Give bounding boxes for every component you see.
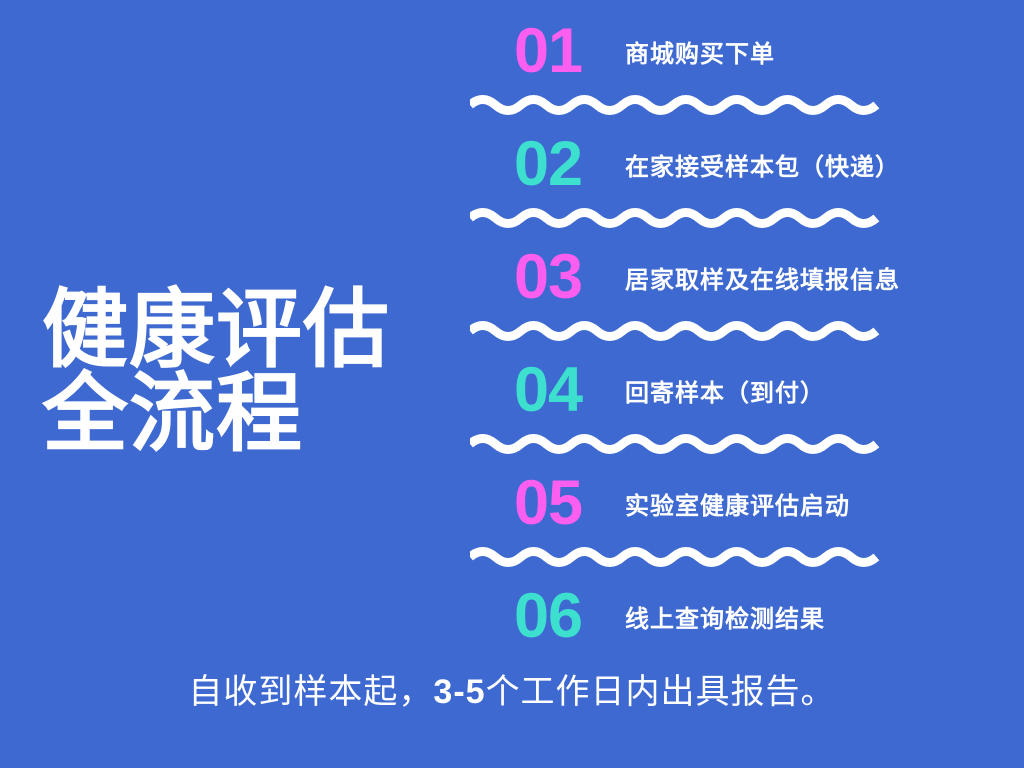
step-label-03: 居家取样及在线填报信息 <box>625 240 900 315</box>
wave-divider-4 <box>470 428 882 466</box>
step-number-06: 06 <box>514 579 582 654</box>
turnaround-note-days: 3-5 <box>433 673 485 711</box>
step-label-01: 商城购买下单 <box>625 14 775 89</box>
wave-divider-3 <box>470 315 882 353</box>
wave-divider-1 <box>470 89 882 127</box>
page-title-line-1: 健康评估 <box>42 288 442 372</box>
step-number-04: 04 <box>514 353 582 428</box>
turnaround-note-prefix: 自收到样本起， <box>188 673 433 711</box>
turnaround-note-suffix: 个工作日内出具报告。 <box>486 673 836 711</box>
slide-canvas: 健康评估 全流程 01 商城购买下单 02 在家接受样本包（快递） 03 居家取… <box>0 0 1024 768</box>
step-label-02: 在家接受样本包（快递） <box>625 127 900 202</box>
process-step-06: 06 线上查询检测结果 <box>470 579 940 654</box>
step-label-04: 回寄样本（到付） <box>625 353 825 428</box>
wave-divider-5 <box>470 541 882 579</box>
process-step-05: 05 实验室健康评估启动 <box>470 466 940 541</box>
process-step-04: 04 回寄样本（到付） <box>470 353 940 428</box>
wave-divider-2 <box>470 202 882 240</box>
step-number-05: 05 <box>514 466 582 541</box>
step-label-05: 实验室健康评估启动 <box>625 466 850 541</box>
process-step-03: 03 居家取样及在线填报信息 <box>470 240 940 315</box>
page-title-line-2: 全流程 <box>42 372 442 456</box>
step-number-01: 01 <box>514 14 582 89</box>
step-number-02: 02 <box>514 127 582 202</box>
process-step-01: 01 商城购买下单 <box>470 14 940 89</box>
process-step-02: 02 在家接受样本包（快递） <box>470 127 940 202</box>
step-label-06: 线上查询检测结果 <box>625 579 825 654</box>
turnaround-note: 自收到样本起，3-5个工作日内出具报告。 <box>0 668 1024 716</box>
step-number-03: 03 <box>514 240 582 315</box>
process-step-list: 01 商城购买下单 02 在家接受样本包（快递） 03 居家取样及在线填报信息 <box>470 14 940 654</box>
page-title: 健康评估 全流程 <box>42 288 442 456</box>
